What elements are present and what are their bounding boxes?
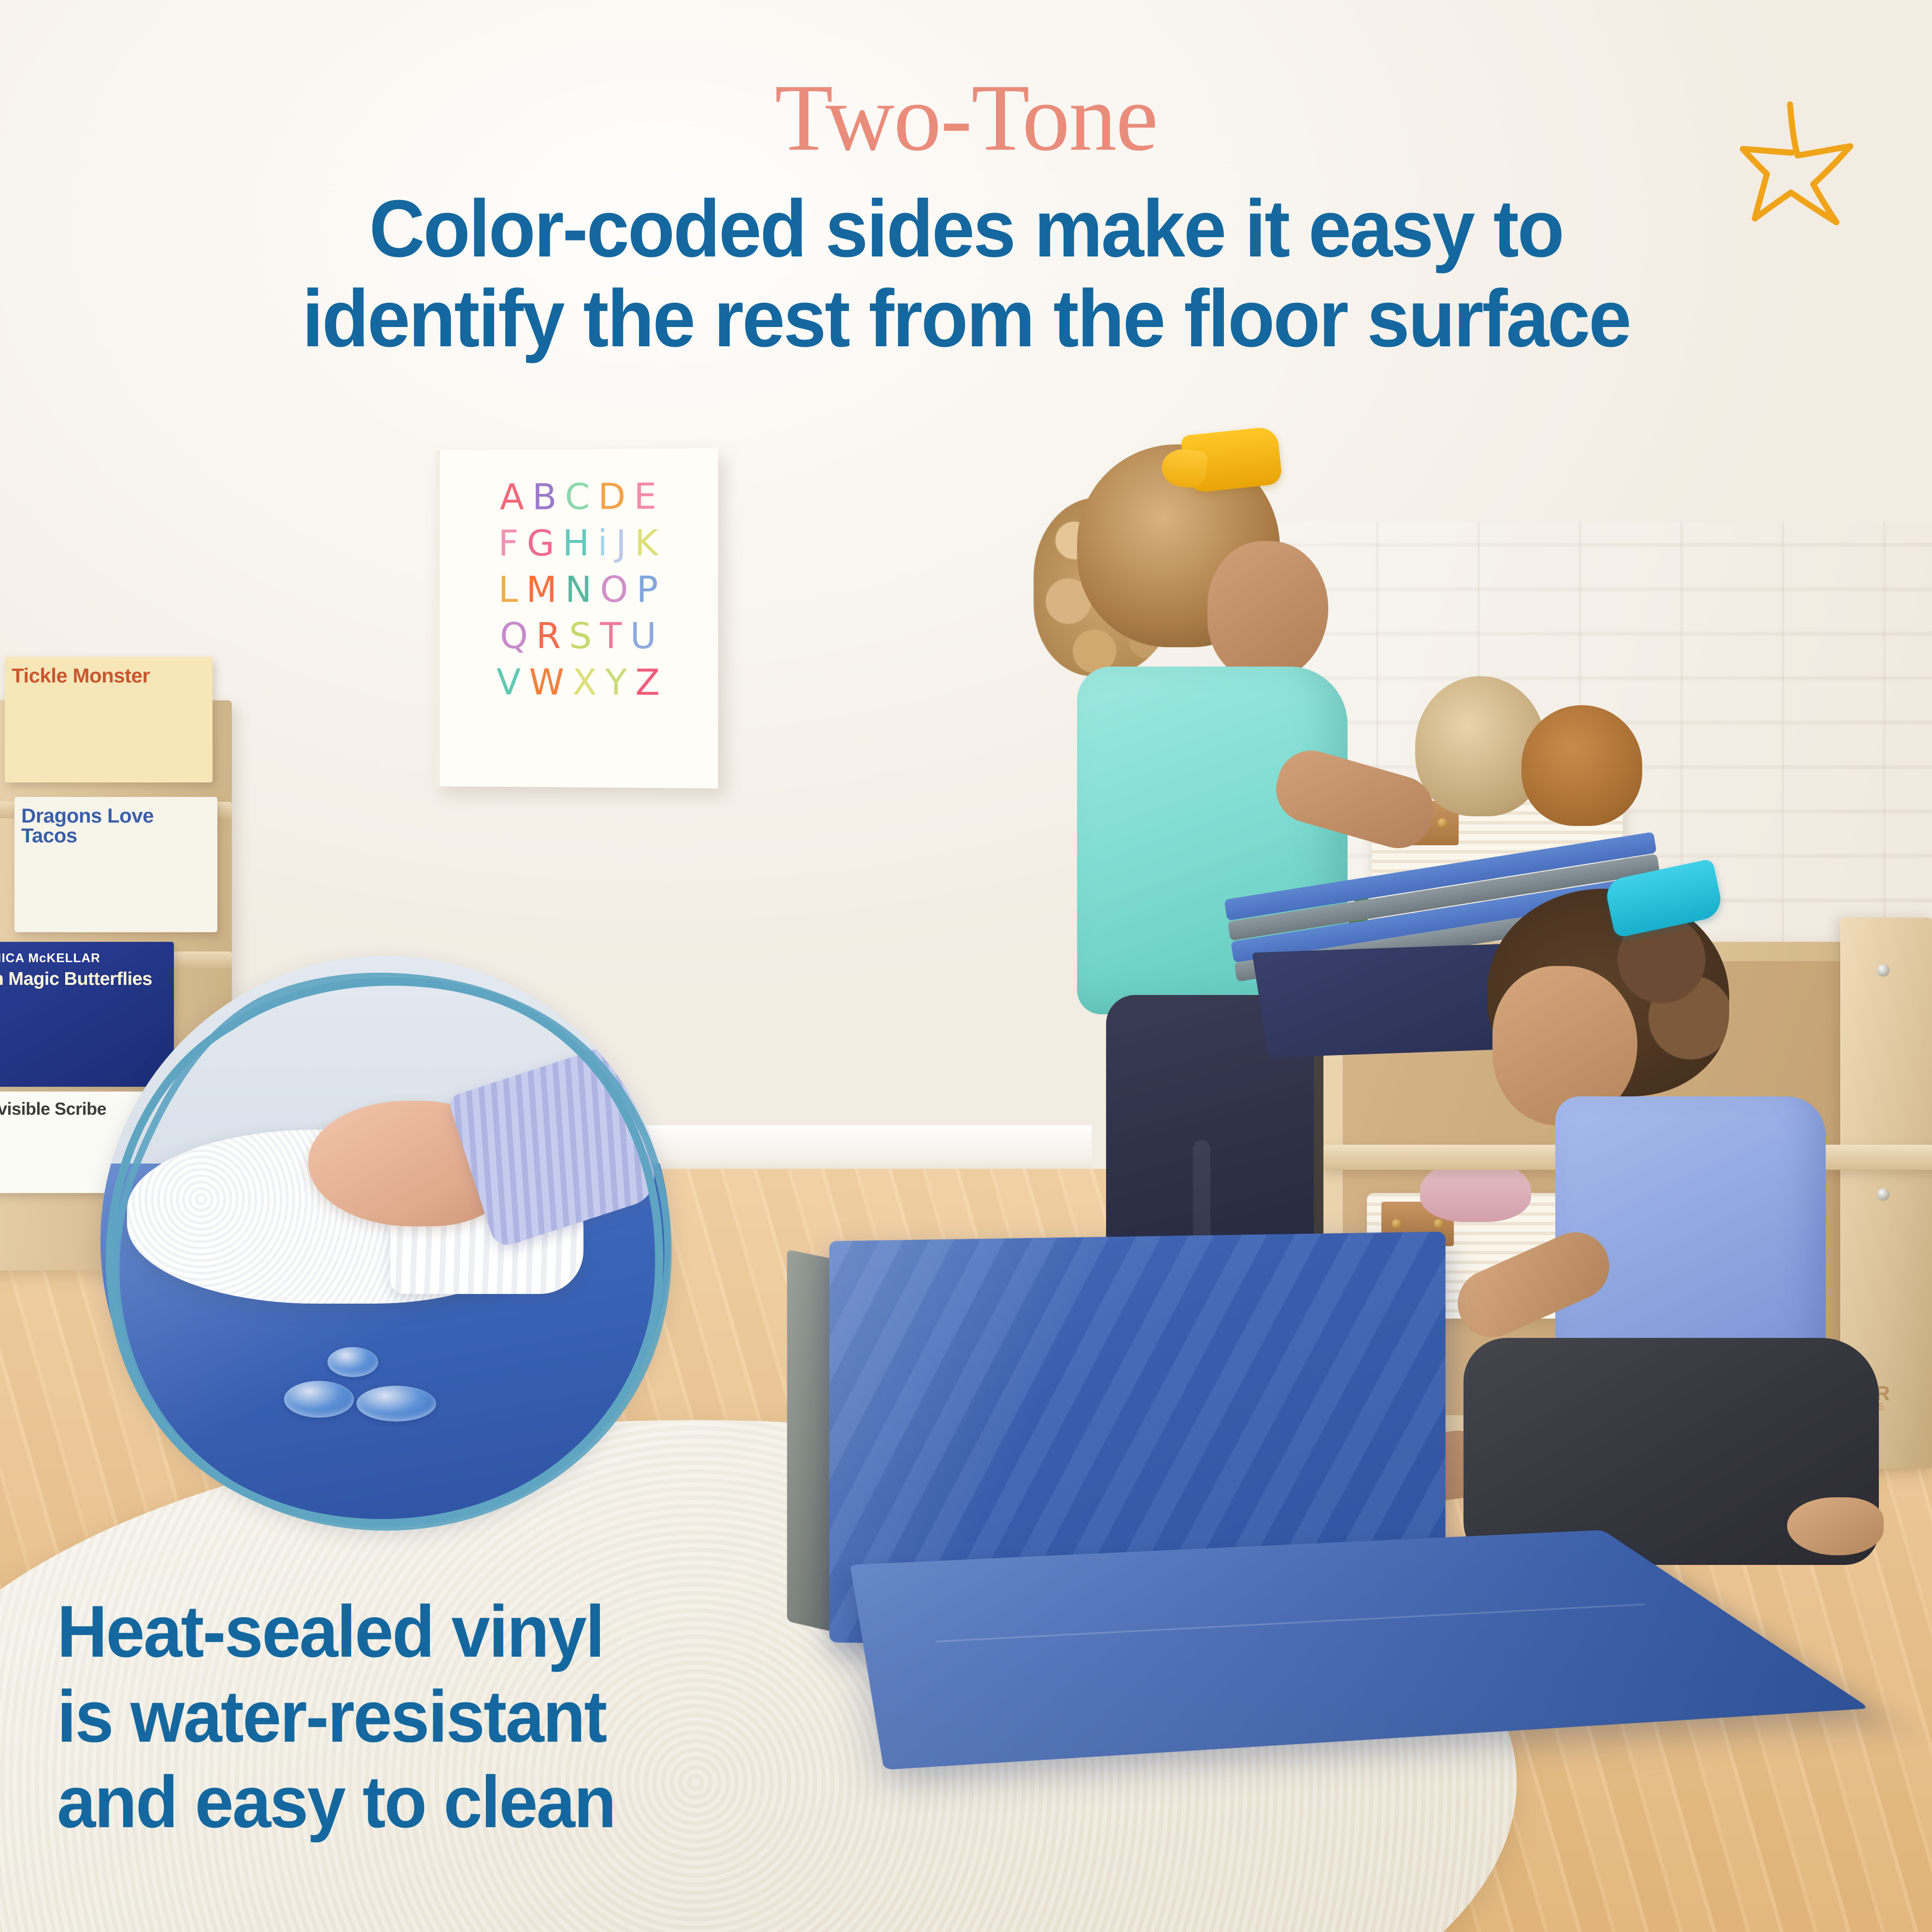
list-item: Tickle Monster — [5, 657, 213, 782]
alphabet-letter: D — [598, 479, 626, 514]
alphabet-letter: R — [536, 618, 561, 654]
footer-line-3: and easy to clean — [57, 1760, 837, 1845]
alphabet-row-1: ABCDE — [456, 478, 702, 515]
child-seated — [1420, 874, 1932, 1589]
alphabet-poster: ABCDE FGHiJK LMNOP QRSTU VWXYZ — [436, 448, 718, 788]
mat-fold-crease — [935, 1604, 1646, 1642]
alphabet-row-4: QRSTU — [456, 618, 702, 654]
footer-line-1: Heat-sealed vinyl — [57, 1589, 837, 1674]
water-droplet — [327, 1347, 378, 1377]
alphabet-letter: T — [600, 618, 622, 654]
alphabet-letter: H — [563, 526, 590, 561]
list-item: Dragons Love Tacos — [14, 797, 217, 932]
footer-line-2: is water-resistant — [57, 1674, 837, 1759]
alphabet-letter: S — [569, 618, 592, 654]
face — [1207, 541, 1328, 681]
book-title: Dragons Love Tacos — [21, 806, 211, 845]
alphabet-letter: i — [597, 526, 608, 561]
closeup-inset — [86, 944, 685, 1543]
alphabet-letter: Q — [500, 618, 528, 654]
child-standing — [1014, 425, 1381, 1270]
subheading-line-1: Color-coded sides make it easy to — [48, 184, 1884, 273]
alphabet-row-3: LMNOP — [456, 571, 702, 608]
yellow-hair-bow — [1180, 426, 1282, 494]
alphabet-letter: O — [600, 572, 628, 608]
alphabet-letter: Z — [635, 665, 660, 700]
inset-photograph — [100, 956, 670, 1526]
page-subheading: Color-coded sides make it easy to identi… — [48, 184, 1884, 364]
alphabet-letter: E — [634, 479, 657, 514]
alphabet-letter: C — [565, 479, 591, 515]
alphabet-letter: X — [572, 665, 597, 700]
water-droplet — [356, 1386, 436, 1421]
star-outline-icon — [1739, 99, 1860, 229]
alphabet-letter: A — [500, 480, 525, 515]
teddy-bear — [1521, 705, 1642, 826]
alphabet-letter: F — [498, 526, 519, 561]
alphabet-row-5: VWXYZ — [456, 664, 702, 700]
alphabet-letter: W — [529, 665, 565, 700]
book-title: Tickle Monster — [12, 666, 150, 685]
alphabet-letter: M — [526, 572, 557, 608]
alphabet-letter: U — [630, 618, 657, 654]
product-feature-canvas: ABCDE FGHiJK LMNOP QRSTU VWXYZ Tickle Mo… — [0, 0, 1932, 1932]
alphabet-row-2: FGHiJK — [456, 525, 702, 562]
alphabet-letter: B — [532, 479, 557, 515]
foot — [1787, 1497, 1884, 1555]
alphabet-letter: G — [527, 526, 555, 561]
alphabet-letter: K — [635, 525, 659, 561]
alphabet-letter: V — [497, 665, 521, 700]
page-eyebrow-title: Two-Tone — [0, 70, 1932, 166]
alphabet-letter: N — [565, 572, 592, 608]
book-author: DANICA McKELLAR — [0, 951, 100, 966]
alphabet-letter: L — [498, 572, 519, 608]
alphabet-letter: P — [637, 572, 659, 608]
alphabet-letter: J — [616, 526, 627, 561]
subheading-line-2: identify the rest from the floor surface — [48, 273, 1884, 363]
alphabet-letter: Y — [605, 665, 627, 700]
water-droplet — [284, 1381, 354, 1418]
footer-callout: Heat-sealed vinyl is water-resistant and… — [57, 1589, 837, 1845]
